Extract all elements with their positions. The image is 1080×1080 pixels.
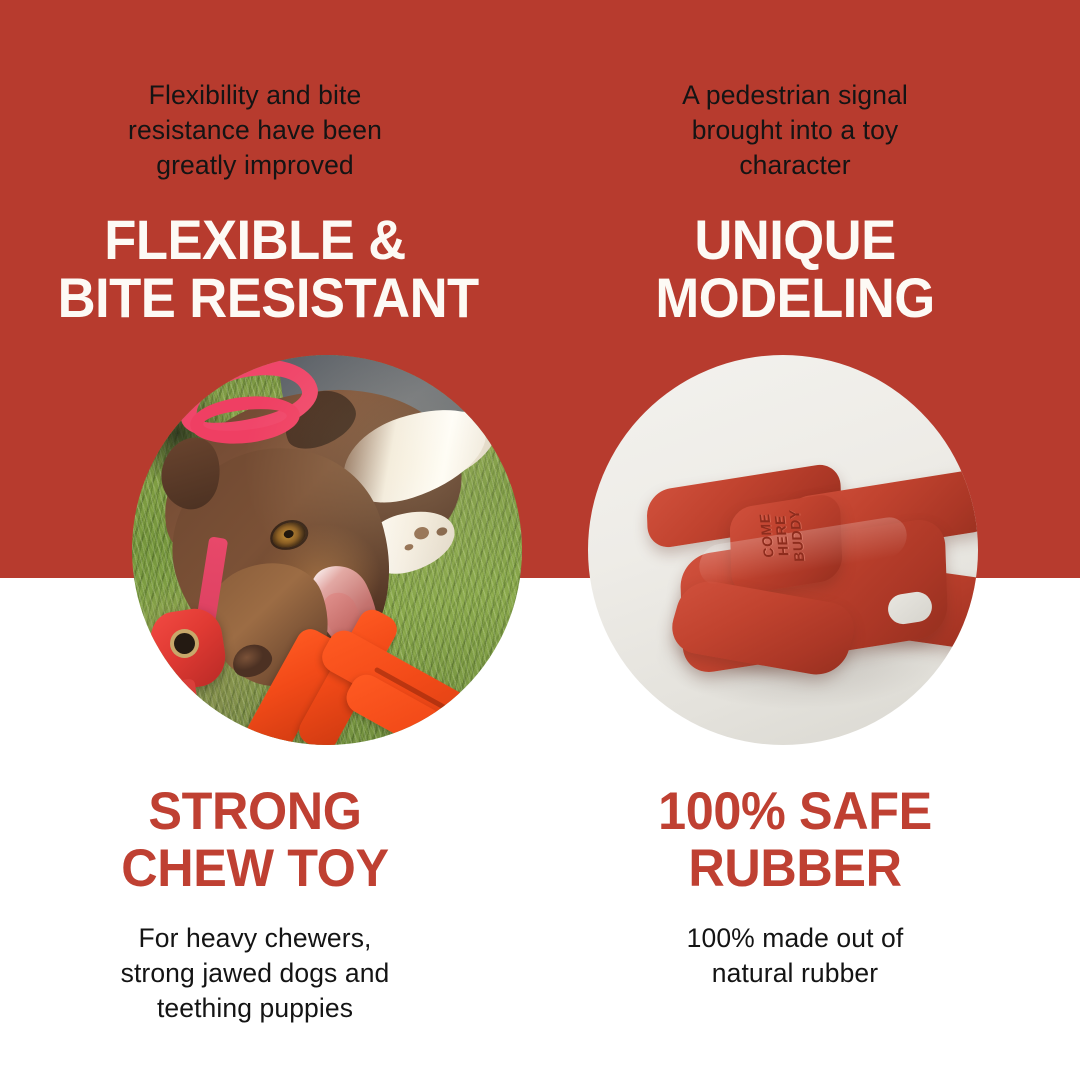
rubber-toy-product-photo: COME HERE BUDDY (588, 355, 978, 745)
panel-bottom-right: 100% SAFE RUBBER 100% made out of natura… (580, 783, 1010, 991)
dog-photo-content (132, 355, 522, 745)
bottom-right-heading: 100% SAFE RUBBER (580, 783, 1010, 897)
heading-line: MODELING (598, 269, 993, 327)
heading-line: 100% SAFE (591, 783, 1000, 840)
body-line: teething puppies (40, 991, 470, 1026)
heading-line: RUBBER (591, 840, 1000, 897)
bag-dispenser-grommet (174, 633, 195, 654)
panel-bottom-left: STRONG CHEW TOY For heavy chewers, stron… (40, 783, 470, 1026)
subtitle-line: Flexibility and bite (45, 78, 465, 113)
bottom-left-heading: STRONG CHEW TOY (40, 783, 470, 897)
top-left-subtitle: Flexibility and bite resistance have bee… (45, 78, 465, 183)
heading-line: FLEXIBLE & (58, 211, 453, 269)
panel-top-left: Flexibility and bite resistance have bee… (45, 78, 465, 327)
heading-line: BITE RESISTANT (58, 269, 453, 327)
heading-line: STRONG (51, 783, 460, 840)
top-right-heading: UNIQUE MODELING (585, 211, 1005, 327)
top-right-subtitle: A pedestrian signal brought into a toy c… (585, 78, 1005, 183)
product-feature-infographic: Flexibility and bite resistance have bee… (0, 0, 1080, 1080)
subtitle-line: A pedestrian signal (585, 78, 1005, 113)
subtitle-line: resistance have been (45, 113, 465, 148)
panel-top-right: A pedestrian signal brought into a toy c… (585, 78, 1005, 327)
heading-line: CHEW TOY (51, 840, 460, 897)
top-left-heading: FLEXIBLE & BITE RESISTANT (45, 211, 465, 327)
body-line: For heavy chewers, (40, 921, 470, 956)
toy-head (729, 492, 843, 596)
subtitle-line: greatly improved (45, 148, 465, 183)
heading-line: UNIQUE (598, 211, 993, 269)
body-line: natural rubber (580, 956, 1010, 991)
subtitle-line: character (585, 148, 1005, 183)
subtitle-line: brought into a toy (585, 113, 1005, 148)
rubber-toy-photo-content: COME HERE BUDDY (588, 355, 978, 745)
bottom-left-body: For heavy chewers, strong jawed dogs and… (40, 921, 470, 1026)
body-line: strong jawed dogs and (40, 956, 470, 991)
dog-chewing-toy-photo (132, 355, 522, 745)
bottom-right-body: 100% made out of natural rubber (580, 921, 1010, 991)
body-line: 100% made out of (580, 921, 1010, 956)
